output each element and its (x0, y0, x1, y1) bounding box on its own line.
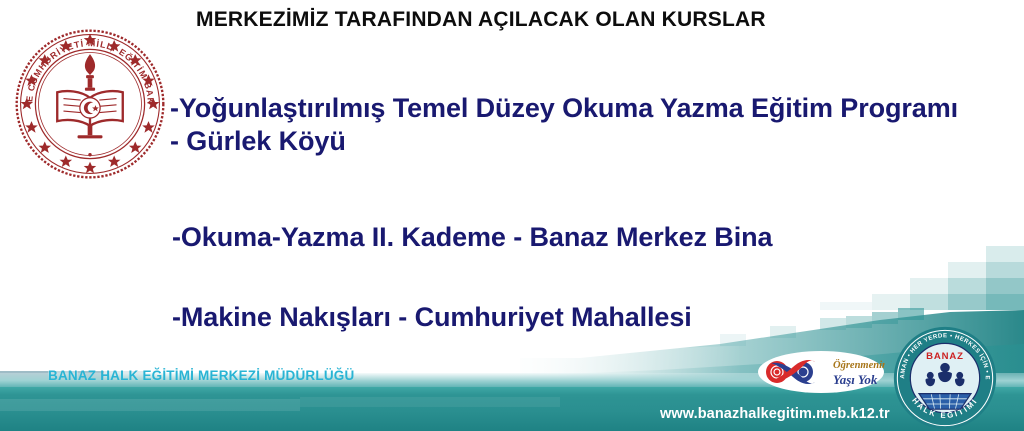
page-title: MERKEZİMİZ TARAFINDAN AÇILACAK OLAN KURS… (196, 8, 896, 32)
poster-canvas: TÜRKİYE CUMHURİYETİ MİLLİ EĞİTİM BAKANLI… (0, 0, 1024, 431)
course-item-1: -Yoğunlaştırılmış Temel Düzey Okuma Yazm… (170, 92, 970, 158)
banaz-seal-svg: • HER ZAMAN • HER YERDE • HERKES İÇİN • … (893, 326, 997, 430)
organization-name: BANAZ HALK EĞİTİMİ MERKEZİ MÜDÜRLÜĞÜ (48, 368, 354, 383)
meb-ministry-seal-logo: TÜRKİYE CUMHURİYETİ MİLLİ EĞİTİM BAKANLI… (12, 26, 168, 182)
svg-text:BANAZ: BANAZ (926, 351, 964, 362)
website-url: www.banazhalkegitim.meb.k12.tr (660, 406, 890, 422)
course-item-3: -Makine Nakışları - Cumhuriyet Mahallesi (172, 301, 972, 334)
oyy-logo-svg: Öğrenmenin Yaşı Yok (757, 348, 885, 396)
course-item-2: -Okuma-Yazma II. Kademe - Banaz Merkez B… (172, 221, 972, 254)
banaz-halk-egitimi-seal-logo: • HER ZAMAN • HER YERDE • HERKES İÇİN • … (893, 326, 997, 430)
meb-seal-svg: TÜRKİYE CUMHURİYETİ MİLLİ EĞİTİM BAKANLI… (12, 26, 168, 182)
svg-text:Yaşı Yok: Yaşı Yok (833, 372, 878, 387)
svg-text:Öğrenmenin: Öğrenmenin (833, 358, 885, 371)
ogrenmenin-yasi-yok-logo: Öğrenmenin Yaşı Yok (757, 348, 885, 396)
